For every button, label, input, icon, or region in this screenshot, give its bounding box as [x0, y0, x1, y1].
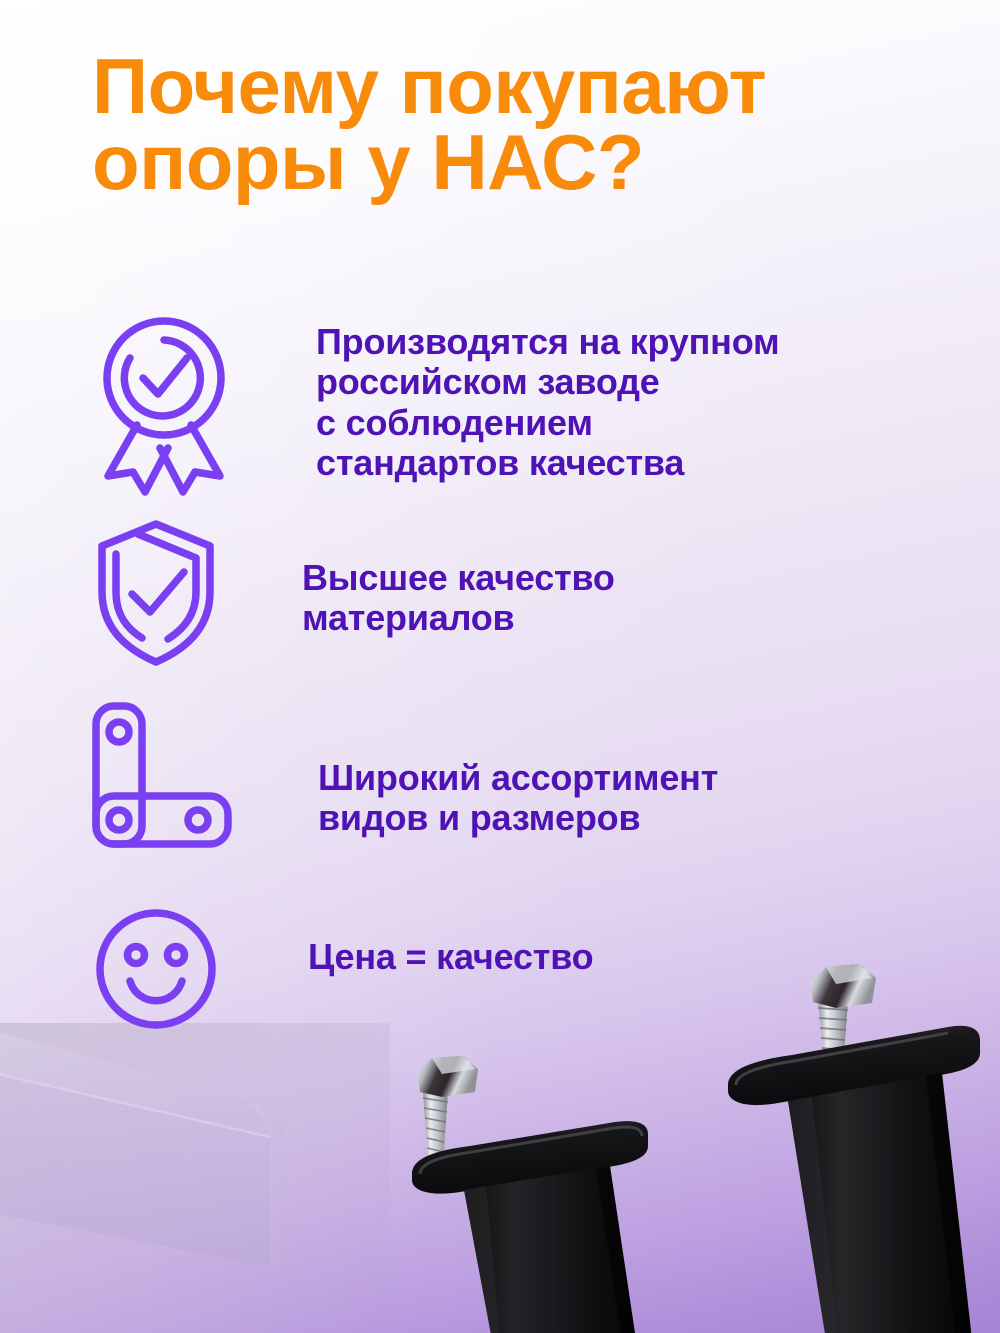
- feature-label: Производятся на крупном российском завод…: [316, 322, 779, 483]
- feature-label: Широкий ассортимент видов и размеров: [318, 758, 718, 839]
- feature-item-materials: Высшее качество материалов: [92, 518, 615, 673]
- promo-poster: Почему покупают опоры у НАС? Производятс…: [0, 0, 1000, 1333]
- shield-check-icon: [92, 518, 220, 673]
- background-corner-wedge: [0, 1023, 390, 1333]
- feature-label: Цена = качество: [308, 937, 593, 977]
- feature-label: Высшее качество материалов: [302, 558, 615, 639]
- smiley-face-icon: [92, 905, 220, 1038]
- feature-item-quality-plant: Производятся на крупном российском завод…: [88, 308, 779, 503]
- corner-bracket-icon: [88, 700, 238, 857]
- faded-beam-image: [0, 1005, 330, 1305]
- feature-item-assortment: Широкий ассортимент видов и размеров: [88, 700, 718, 857]
- support-leg-front-image: [400, 1050, 650, 1333]
- feature-item-price: Цена = качество: [92, 905, 593, 1038]
- award-ribbon-icon: [88, 308, 240, 503]
- page-title: Почему покупают опоры у НАС?: [92, 48, 972, 201]
- support-leg-back-image: [700, 955, 980, 1333]
